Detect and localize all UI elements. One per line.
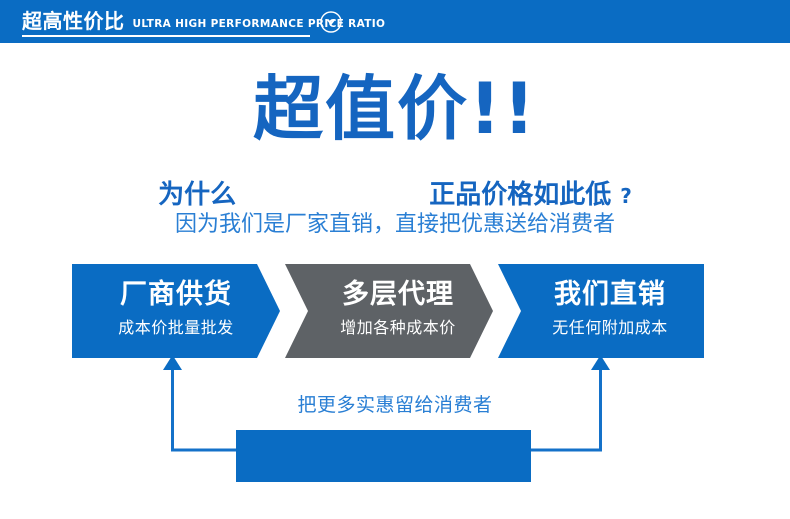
hero-question-row: 为什么 正品价格如此低 ? bbox=[0, 182, 790, 208]
hero-answer: 因为我们是厂家直销，直接把优惠送给消费者 bbox=[0, 214, 790, 236]
hero-question-mark: ? bbox=[620, 184, 632, 208]
flow-step-subtitle: 成本价批量批发 bbox=[72, 320, 280, 336]
header-bar: 超高性价比 ULTRA HIGH PERFORMANCE PRICE RATIO bbox=[0, 0, 790, 43]
flow-step-title: 我们直销 bbox=[516, 281, 704, 308]
header-underline bbox=[22, 35, 310, 37]
bottom-caption: 把更多实惠留给消费者 bbox=[0, 396, 790, 415]
bottom-highlight-bar bbox=[236, 430, 531, 482]
header-title-cn: 超高性价比 bbox=[22, 11, 125, 31]
flow-step-agents[interactable]: 多层代理 增加各种成本价 bbox=[285, 264, 493, 358]
flow-step-direct-sales[interactable]: 我们直销 无任何附加成本 bbox=[498, 264, 704, 358]
arrow-up-icon-left bbox=[163, 355, 182, 370]
flow-step-subtitle: 增加各种成本价 bbox=[303, 320, 493, 336]
header-title-en: ULTRA HIGH PERFORMANCE PRICE RATIO bbox=[133, 18, 386, 30]
flow-step-manufacturer[interactable]: 厂商供货 成本价批量批发 bbox=[72, 264, 280, 358]
flow-step-subtitle: 无任何附加成本 bbox=[516, 320, 704, 336]
hero-question-left: 为什么 bbox=[158, 180, 236, 210]
flow-step-title: 厂商供货 bbox=[72, 281, 280, 308]
hero-question-right: 正品价格如此低 bbox=[429, 180, 611, 210]
flow-step-title: 多层代理 bbox=[303, 281, 493, 308]
page-headline: 超值价!! bbox=[0, 74, 790, 144]
chevron-down-circle-icon[interactable] bbox=[320, 11, 342, 33]
flow-steps: 厂商供货 成本价批量批发 多层代理 增加各种成本价 我们直销 无任何附加成本 bbox=[72, 264, 704, 358]
arrow-up-icon-right bbox=[591, 355, 610, 370]
